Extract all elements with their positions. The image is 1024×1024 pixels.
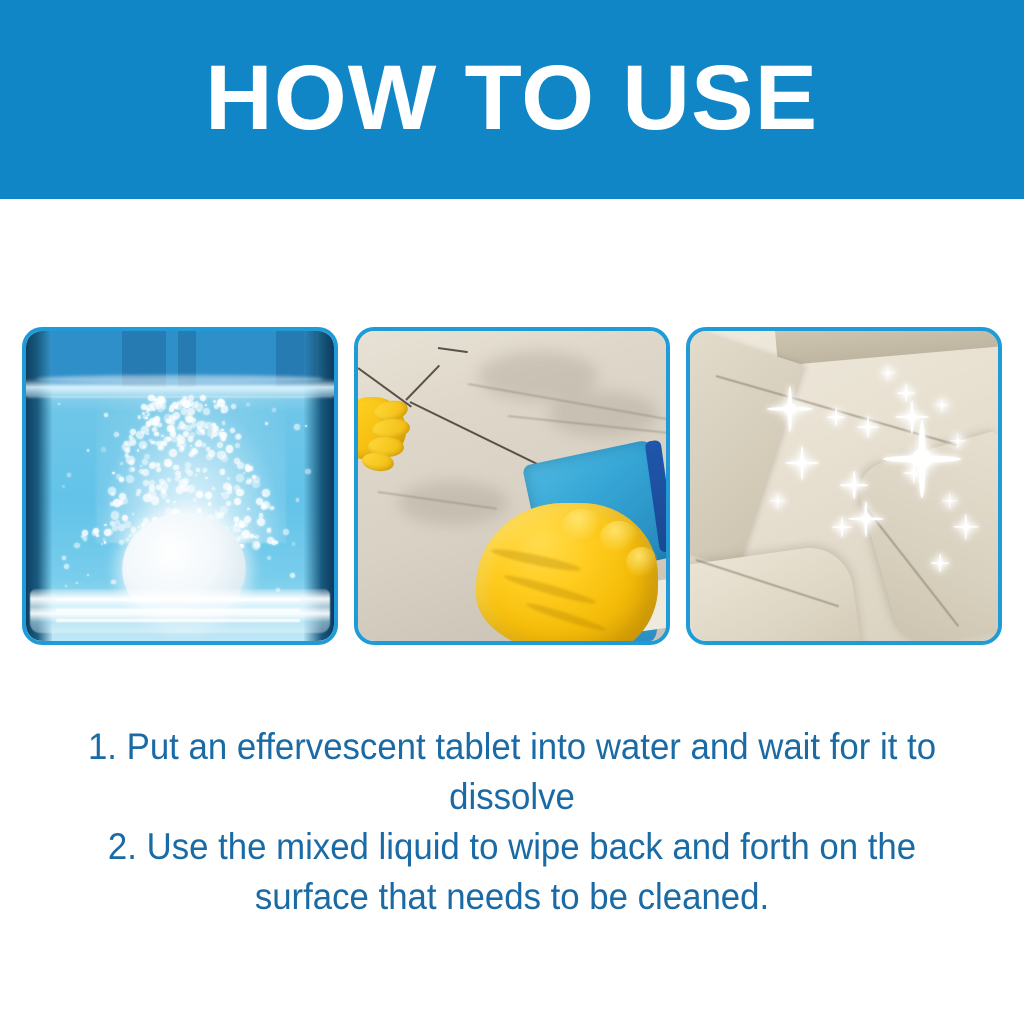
bubble: [74, 543, 80, 549]
bubble: [87, 449, 90, 452]
glove-wrinkle: [503, 572, 598, 607]
bubble: [131, 527, 136, 532]
bubble: [142, 412, 145, 415]
bubble: [139, 469, 144, 474]
bubble: [271, 507, 273, 509]
instructions-block: 1. Put an effervescent tablet into water…: [0, 722, 1024, 922]
bubble: [101, 447, 106, 452]
bubble: [162, 405, 165, 408]
bubble: [190, 445, 192, 447]
bubble: [177, 401, 181, 405]
panel-clean-sofa: [686, 327, 1002, 645]
bubble: [67, 473, 71, 477]
bubble: [220, 506, 228, 514]
bubble: [113, 499, 121, 507]
bubble: [211, 436, 214, 439]
bubble: [149, 463, 155, 469]
bubble: [138, 526, 140, 528]
glass-bottom-line: [56, 609, 300, 612]
bubble: [202, 443, 206, 447]
bubble: [235, 522, 238, 525]
instruction-step-2-line-1: 2. Use the mixed liquid to wipe back and…: [31, 822, 994, 872]
bubble: [64, 564, 69, 569]
bubble: [231, 404, 236, 409]
bubble: [213, 400, 216, 403]
bubble: [220, 469, 225, 474]
bubble: [155, 425, 157, 427]
bubble: [236, 434, 241, 439]
bubble: [234, 458, 240, 464]
bubble: [158, 446, 163, 451]
bubble: [158, 423, 162, 427]
bubble: [104, 529, 111, 536]
bubble: [126, 475, 134, 483]
bubble: [169, 407, 173, 411]
bubble: [181, 484, 189, 492]
clean-sofa-image: [690, 331, 998, 641]
instruction-step-1-line-1: 1. Put an effervescent tablet into water…: [31, 722, 994, 772]
bubble: [166, 419, 170, 423]
tablet-in-glass-image: [26, 331, 334, 641]
bubble: [181, 424, 187, 430]
bubble: [272, 408, 276, 412]
bubble: [161, 441, 167, 447]
bubble: [62, 485, 65, 488]
bubble: [161, 492, 168, 499]
bubble: [116, 474, 121, 479]
bubble: [247, 508, 249, 510]
bubble: [205, 477, 207, 479]
bubble: [202, 432, 205, 435]
panel-wiping-sofa: [354, 327, 670, 645]
bubble: [125, 454, 129, 458]
bubble: [152, 427, 157, 432]
glass-bottom-line: [56, 598, 300, 601]
bubble: [252, 541, 260, 549]
bubble: [199, 429, 203, 433]
bubble: [166, 499, 169, 502]
glove-knuckle: [626, 547, 658, 577]
panel-tablet-dissolving: [22, 327, 338, 645]
bubble: [234, 517, 239, 522]
glove-knuckle: [562, 509, 602, 543]
glove-knuckle: [600, 521, 638, 553]
bubble: [122, 515, 128, 521]
glove-wrinkle: [490, 546, 582, 575]
bubble: [167, 478, 171, 482]
bubble: [111, 511, 119, 519]
bubble: [191, 402, 198, 409]
bubble: [227, 477, 230, 480]
glove-wrinkle: [525, 600, 607, 634]
bubble: [241, 532, 247, 538]
page-title: HOW TO USE: [205, 52, 818, 144]
bubble: [243, 521, 249, 527]
bubble: [259, 513, 263, 517]
bubble: [160, 482, 168, 490]
bubble: [250, 534, 254, 538]
bubble: [267, 528, 271, 532]
bubble: [203, 471, 205, 473]
bubble: [129, 438, 136, 445]
bubble: [238, 530, 240, 532]
instruction-step-2-line-2: surface that needs to be cleaned.: [31, 872, 994, 922]
bubble: [147, 413, 150, 416]
bubble: [221, 405, 229, 413]
bubble: [226, 445, 233, 452]
bubble: [112, 472, 114, 474]
bubble: [247, 478, 250, 481]
bubble: [290, 573, 295, 578]
bubble: [137, 449, 139, 451]
cloth-edge-trim: [645, 440, 666, 553]
bubble: [177, 438, 180, 441]
bubble: [148, 395, 155, 402]
bubble: [195, 443, 198, 446]
bubble: [236, 474, 244, 482]
bubble: [192, 436, 194, 438]
bubble: [178, 476, 180, 478]
bubble: [220, 435, 226, 441]
bubble: [170, 431, 176, 437]
bubble: [215, 511, 219, 515]
bubble: [257, 518, 265, 526]
bubble: [124, 521, 131, 528]
bubble: [149, 485, 154, 490]
bubble: [223, 483, 231, 491]
bubble: [112, 525, 118, 531]
bubble: [170, 421, 175, 426]
wiping-sofa-image: [358, 331, 666, 641]
bubble: [136, 431, 144, 439]
bubble: [178, 434, 180, 436]
bubble: [305, 425, 307, 427]
bubble: [305, 469, 311, 475]
bubble: [246, 403, 249, 406]
bubble: [272, 540, 276, 544]
bubble: [132, 513, 134, 515]
instruction-step-1-line-2: dissolve: [31, 772, 994, 822]
bubble: [186, 405, 189, 408]
bubble: [62, 556, 66, 560]
bubble: [151, 496, 159, 504]
bubble: [294, 424, 299, 429]
bubble: [296, 498, 299, 501]
bubble: [205, 492, 212, 499]
bubble: [185, 414, 193, 422]
bubble: [118, 524, 125, 531]
bubble: [129, 460, 134, 465]
bubble: [283, 529, 289, 535]
glass-bottom-line: [56, 619, 300, 622]
bubble: [143, 480, 149, 486]
bubble: [167, 437, 171, 441]
image-panel-strip: [22, 327, 1002, 647]
bubble: [83, 536, 87, 540]
glass-bottom-highlight: [30, 589, 330, 633]
bubble: [183, 478, 189, 484]
bubble: [208, 502, 212, 506]
bubble: [197, 426, 200, 429]
bubble: [147, 404, 153, 410]
bubble: [188, 395, 194, 401]
header-banner: HOW TO USE: [0, 0, 1024, 199]
bubble: [265, 422, 268, 425]
bubble: [234, 485, 240, 491]
bubble: [181, 442, 186, 447]
